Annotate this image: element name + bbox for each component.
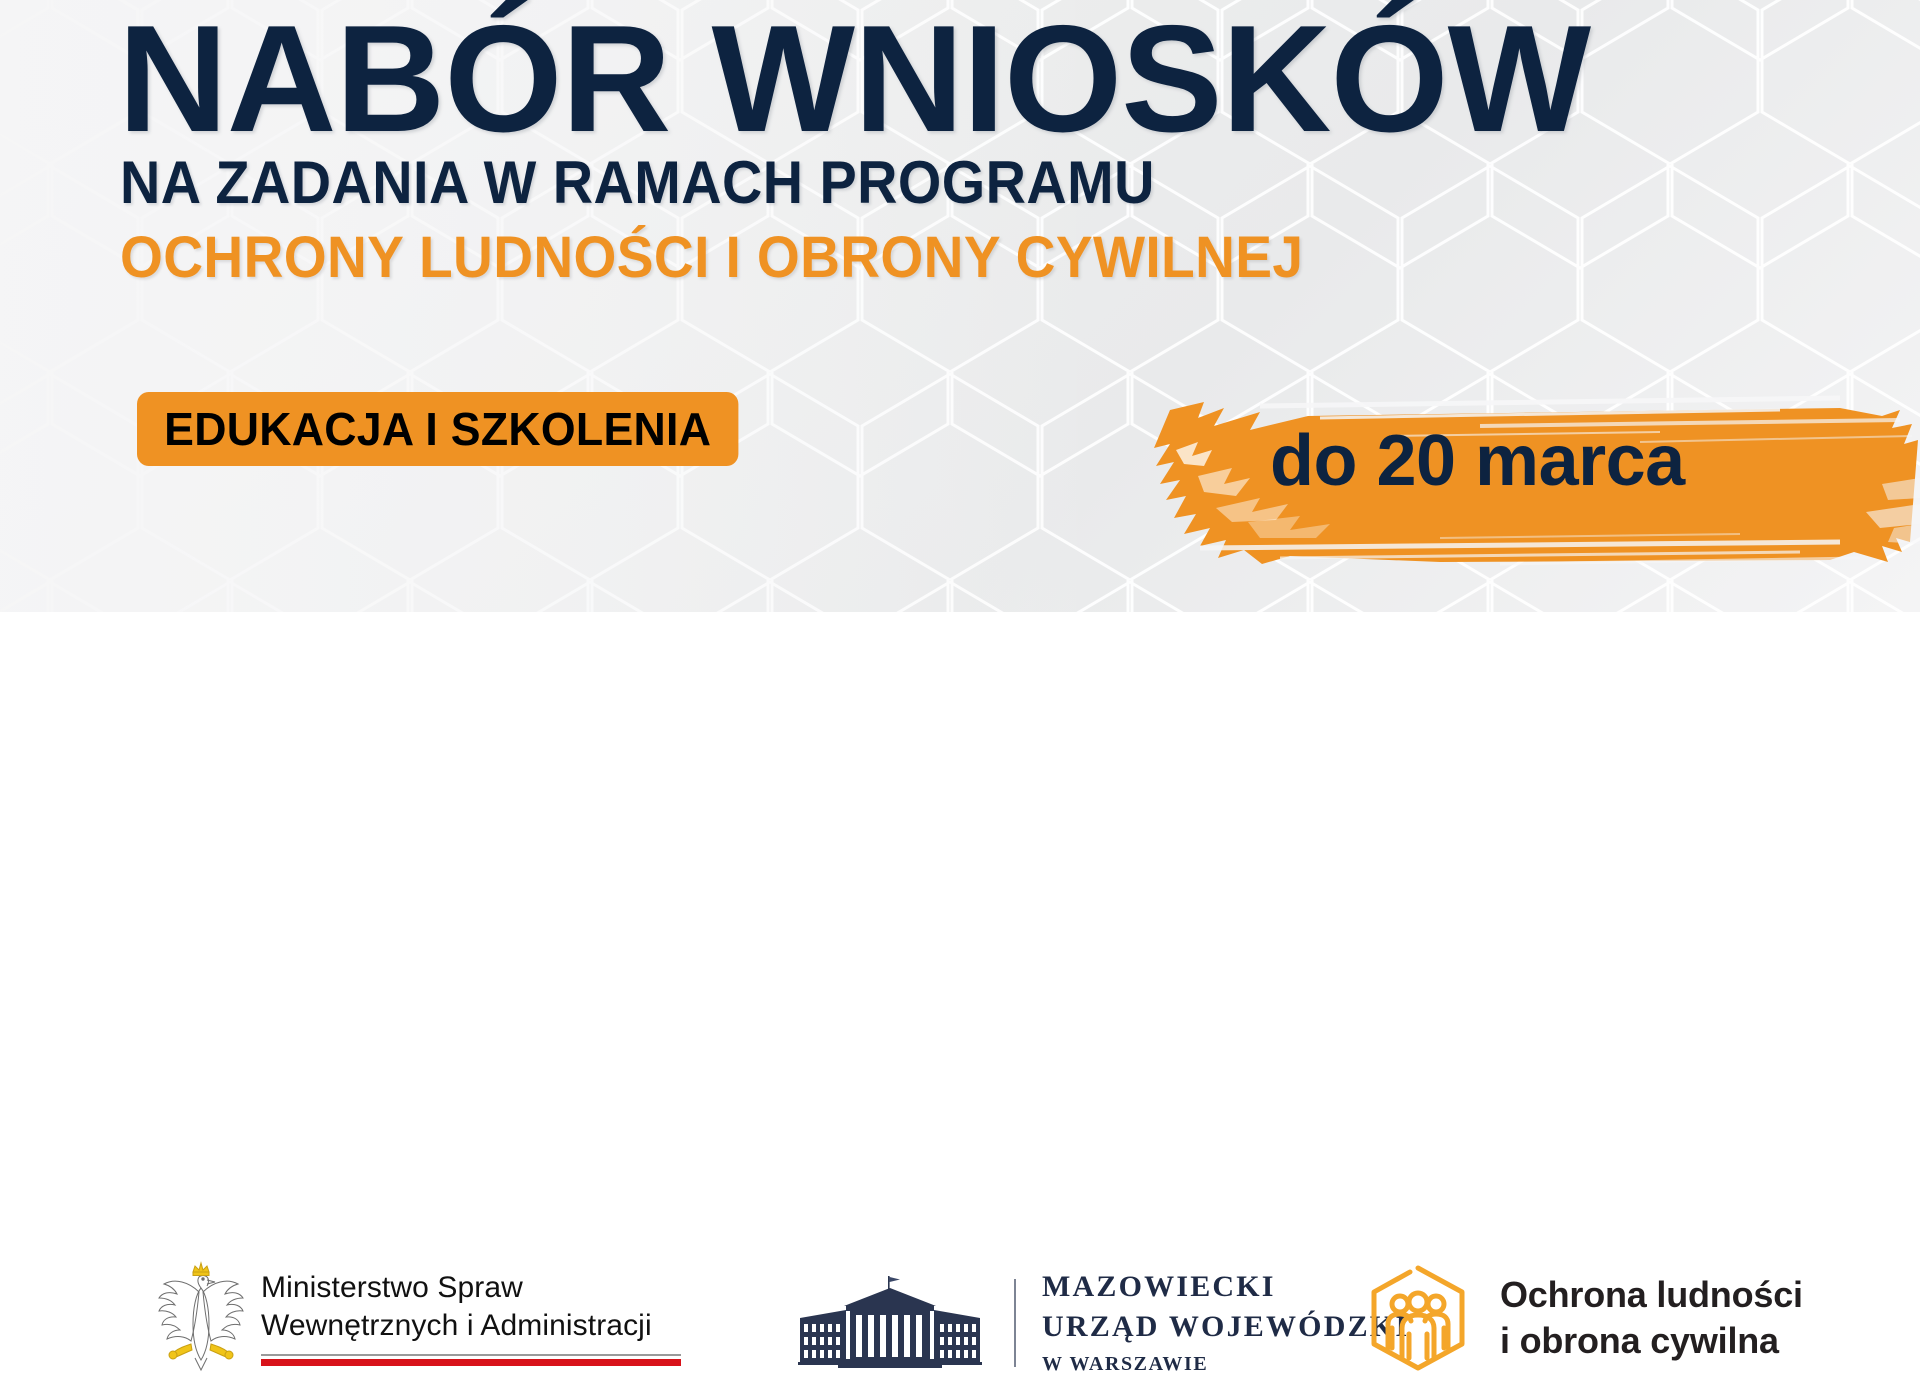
muw-line-1: MAZOWIECKI (1042, 1267, 1409, 1307)
logo-mswia: Ministerstwo Spraw Wewnętrznych i Admini… (155, 1258, 681, 1376)
poster-banner: NABÓR WNIOSKÓW NA ZADANIA W RAMACH PROGR… (0, 0, 1920, 810)
page-title: NABÓR WNIOSKÓW (118, 4, 1590, 154)
olic-line-1: Ochrona ludności (1500, 1272, 1803, 1318)
program-name-line: OCHRONY LUDNOŚCI I OBRONY CYWILNEJ (120, 228, 1303, 288)
muw-line-3: W WARSZAWIE (1042, 1349, 1409, 1379)
logo-divider (1014, 1279, 1016, 1367)
mswia-rule-grey (261, 1354, 681, 1356)
mswia-line-2: Wewnętrznych i Administracji (261, 1307, 681, 1345)
category-badge: EDUKACJA I SZKOLENIA (137, 392, 738, 466)
banner-section: NABÓR WNIOSKÓW NA ZADANIA W RAMACH PROGR… (0, 0, 1920, 612)
category-badge-label: EDUKACJA I SZKOLENIA (164, 402, 711, 456)
government-building-icon (790, 1274, 990, 1372)
mswia-rule-red (261, 1359, 681, 1366)
logo-mazowiecki-urzad-wojewodzki: MAZOWIECKI URZĄD WOJEWÓDZKI W WARSZAWIE (790, 1267, 1409, 1379)
subtitle-line: NA ZADANIA W RAMACH PROGRAMU (120, 152, 1155, 214)
headline-block: NABÓR WNIOSKÓW NA ZADANIA W RAMACH PROGR… (0, 0, 1920, 612)
olic-line-2: i obrona cywilna (1500, 1318, 1803, 1364)
muw-line-2: URZĄD WOJEWÓDZKI (1042, 1307, 1409, 1347)
footer-logo-bar: Ministerstwo Spraw Wewnętrznych i Admini… (0, 612, 1920, 810)
logo-ochrona-ludnosci: Ochrona ludności i obrona cywilna (1362, 1262, 1803, 1374)
mswia-flag-rule (261, 1354, 681, 1366)
deadline-text: do 20 marca (1270, 420, 1685, 502)
mswia-line-1: Ministerstwo Spraw (261, 1269, 681, 1307)
polish-eagle-emblem-icon (155, 1258, 247, 1376)
hexagon-people-icon (1362, 1262, 1474, 1374)
